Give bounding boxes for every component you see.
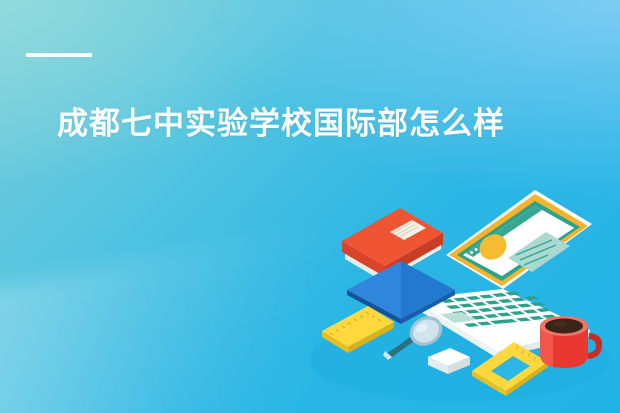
page-title: 成都七中实验学校国际部怎么样 xyxy=(57,104,505,144)
desk-study-illustration xyxy=(290,185,620,413)
decorative-underline xyxy=(26,53,92,57)
promo-banner: 成都七中实验学校国际部怎么样 xyxy=(0,0,620,413)
